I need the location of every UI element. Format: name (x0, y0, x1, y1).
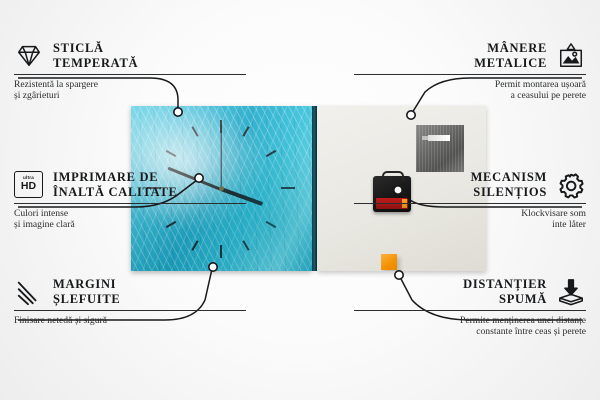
feature-divider (14, 74, 246, 75)
clock-tick (266, 150, 277, 157)
feature-description: Permite menținerea unei distanțe constan… (354, 315, 586, 338)
diamond-icon (14, 42, 44, 70)
feature-distantier-spuma: DISTANȚIER SPUMĂ Permite menținerea unei… (354, 277, 586, 338)
feature-desc-line2: a ceasului pe perete (354, 90, 586, 101)
clock-tick (220, 245, 222, 258)
feature-sticla-temperata: STICLĂ TEMPERATĂ Rezistentă la spargere … (14, 41, 246, 102)
feature-title: STICLĂ TEMPERATĂ (53, 41, 138, 70)
clock-tick (166, 150, 177, 157)
feature-desc-line1: Klockvisare som (354, 208, 586, 219)
feature-desc-line2: și imagine clară (14, 219, 246, 230)
feature-desc-line1: Permit montarea ușoară (354, 79, 586, 90)
feature-divider (14, 203, 246, 204)
ultra-hd-main-label: HD (21, 181, 36, 192)
feature-manere-metalice: MÂNERE METALICE Permit montarea ușoară a… (354, 41, 586, 102)
feature-desc-line1: Culori intense (14, 208, 246, 219)
feature-description: Rezistentă la spargere și zgârieturi (14, 79, 246, 102)
feature-title: MARGINI ȘLEFUITE (53, 277, 120, 306)
ultra-hd-icon: ultra HD (14, 171, 44, 199)
feature-description: Culori intense și imagine clară (14, 208, 246, 231)
clock-tick (191, 240, 198, 251)
hanger-slot (428, 135, 450, 141)
feature-desc-line2: constante între ceas și perete (354, 326, 586, 337)
feature-title-line2: TEMPERATĂ (53, 56, 138, 71)
clock-tick (220, 120, 222, 133)
feature-description: Finisare netedă și sigură (14, 315, 246, 326)
feature-title: MÂNERE METALICE (474, 41, 547, 70)
feature-description: Permit montarea ușoară a ceasului pe per… (354, 79, 586, 102)
picture-hanger-icon (556, 42, 586, 70)
ultra-hd-badge: ultra HD (14, 171, 43, 198)
feature-title: IMPRIMARE DE ÎNALTĂ CALITATE (53, 170, 178, 199)
feature-divider (354, 203, 586, 204)
feature-header: DISTANȚIER SPUMĂ (354, 277, 586, 306)
feature-title-line1: MARGINI (53, 277, 120, 292)
feature-header: MECANISM SILENȚIOS (354, 170, 586, 199)
feature-title-line1: IMPRIMARE DE (53, 170, 178, 185)
feature-imprimare-hd: ultra HD IMPRIMARE DE ÎNALTĂ CALITATE Cu… (14, 170, 246, 231)
feature-desc-line1: Rezistentă la spargere (14, 79, 246, 90)
feature-mecanism-silentios: MECANISM SILENȚIOS Klockvisare som inte … (354, 170, 586, 231)
metal-hanger-plate (416, 125, 464, 172)
feature-description: Klockvisare som inte låter (354, 208, 586, 231)
clock-tick (266, 221, 277, 228)
clock-tick (242, 126, 249, 137)
feature-title-line1: MÂNERE (474, 41, 547, 56)
feature-title: MECANISM SILENȚIOS (471, 170, 547, 199)
feature-title-line2: SPUMĂ (463, 292, 547, 307)
feature-desc-line2: și zgârieturi (14, 90, 246, 101)
feature-header: MÂNERE METALICE (354, 41, 586, 70)
infographic-stage: STICLĂ TEMPERATĂ Rezistentă la spargere … (0, 0, 600, 400)
feature-desc-line1: Permite menținerea unei distanțe (354, 315, 586, 326)
feature-margini-slefuite: MARGINI ȘLEFUITE Finisare netedă și sigu… (14, 277, 246, 326)
feature-title-line2: ȘLEFUITE (53, 292, 120, 307)
feature-desc-line2: inte låter (354, 219, 586, 230)
foam-spacer (381, 254, 397, 270)
feature-desc-line1: Finisare netedă și sigură (14, 315, 246, 326)
feature-title-line1: DISTANȚIER (463, 277, 547, 292)
beveled-edge-icon (14, 278, 44, 306)
feature-title-line1: MECANISM (471, 170, 547, 185)
feature-title-line2: ÎNALTĂ CALITATE (53, 185, 178, 200)
clock-tick (191, 126, 198, 137)
clock-tick (242, 240, 249, 251)
feature-title-line2: SILENȚIOS (471, 185, 547, 200)
feature-header: ultra HD IMPRIMARE DE ÎNALTĂ CALITATE (14, 170, 246, 199)
feature-divider (14, 310, 246, 311)
feature-header: STICLĂ TEMPERATĂ (14, 41, 246, 70)
feature-title-line1: STICLĂ (53, 41, 138, 56)
feature-divider (354, 74, 586, 75)
feature-title: DISTANȚIER SPUMĂ (463, 277, 547, 306)
gear-icon (556, 171, 586, 199)
feature-title-line2: METALICE (474, 56, 547, 71)
feature-header: MARGINI ȘLEFUITE (14, 277, 246, 306)
spacer-arrow-icon (556, 278, 586, 306)
feature-divider (354, 310, 586, 311)
clock-tick (281, 187, 295, 189)
